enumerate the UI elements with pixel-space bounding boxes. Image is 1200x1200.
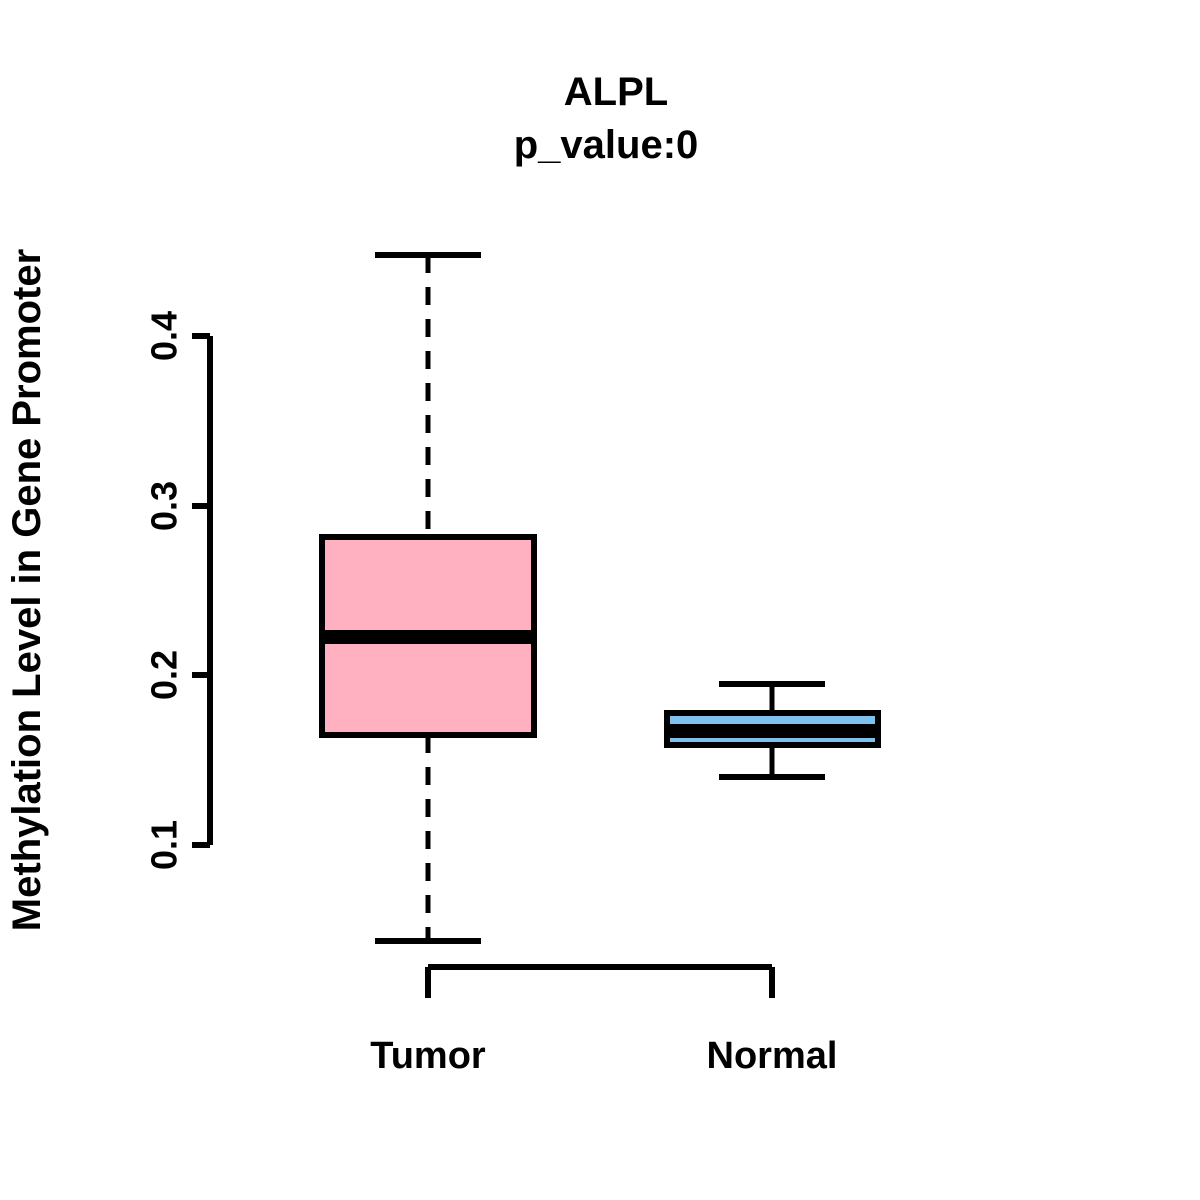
boxplot-figure: ALPL p_value:0 Methylation Level in Gene… [0, 0, 1200, 1200]
boxplot-canvas: ALPL p_value:0 Methylation Level in Gene… [0, 0, 1200, 1200]
y-axis-tick-label-0.2: 0.2 [144, 650, 185, 700]
chart-subtitle: p_value:0 [514, 123, 699, 167]
y-axis-tick-label-0.3: 0.3 [144, 481, 185, 531]
chart-title: ALPL [564, 70, 668, 114]
y-axis-tick-label-0.1: 0.1 [144, 820, 185, 870]
plot-background [0, 0, 1200, 1200]
x-axis-category-label-normal: Normal [707, 1035, 838, 1077]
x-axis-category-label-tumor: Tumor [370, 1035, 486, 1077]
y-axis-tick-label-0.4: 0.4 [144, 311, 185, 361]
y-axis-label: Methylation Level in Gene Promoter [5, 249, 49, 931]
